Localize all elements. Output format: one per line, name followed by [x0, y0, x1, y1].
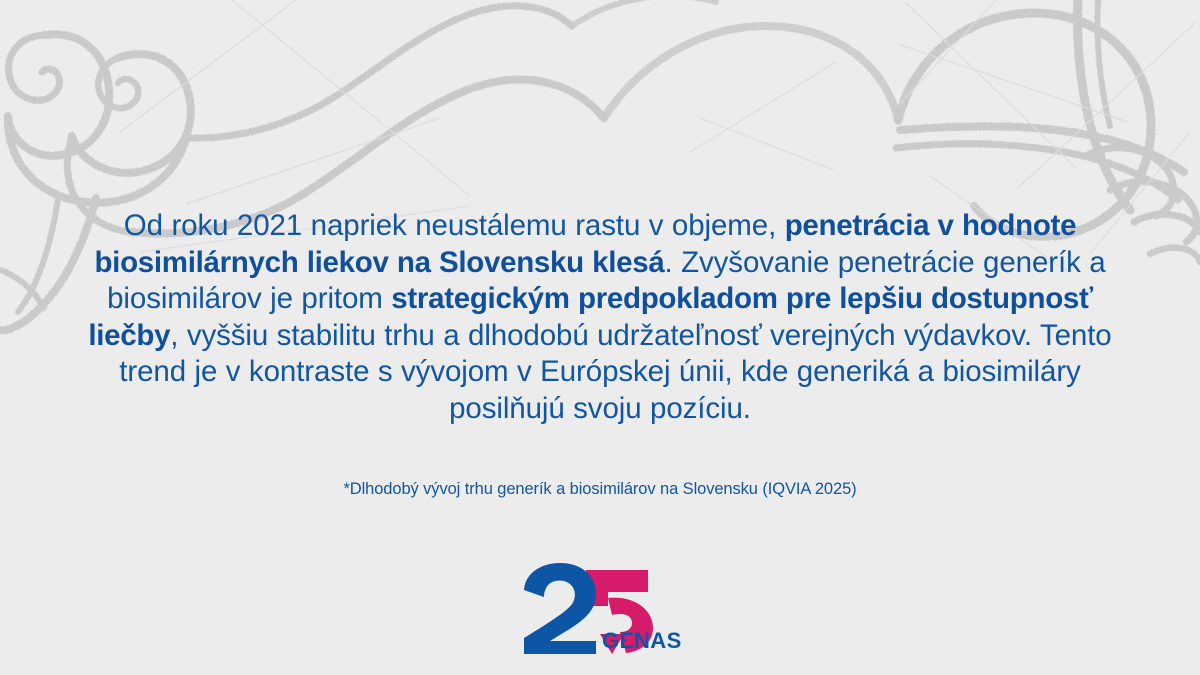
- ornament-center-arc: [572, 0, 898, 120]
- footnote-text: *Dlhodobý vývoj trhu generík a biosimilá…: [60, 478, 1140, 500]
- quote-paragraph: Od roku 2021 napriek neustálemu rastu v …: [60, 208, 1140, 428]
- quote-block: Od roku 2021 napriek neustálemu rastu v …: [60, 208, 1140, 428]
- genas-logo: 25 GENAS GE NAS: [0, 562, 1200, 654]
- source-footnote: *Dlhodobý vývoj trhu generík a biosimilá…: [60, 478, 1140, 500]
- slide-canvas: Od roku 2021 napriek neustálemu rastu v …: [0, 0, 1200, 675]
- logo-wordmark-suffix: NAS: [634, 628, 682, 653]
- logo-digit-two: [524, 563, 596, 654]
- quote-segment-5: , vyššiu stabilitu trhu a dlhodobú udrža…: [119, 319, 1111, 425]
- quote-segment-1: Od roku 2021 napriek neustálemu rastu v …: [124, 209, 785, 242]
- logo-wordmark: GE NAS: [602, 628, 682, 653]
- logo-wordmark-separator-dash: [626, 638, 633, 642]
- genas-anniversary-logo-mark: 25 GENAS GE NAS: [516, 562, 684, 654]
